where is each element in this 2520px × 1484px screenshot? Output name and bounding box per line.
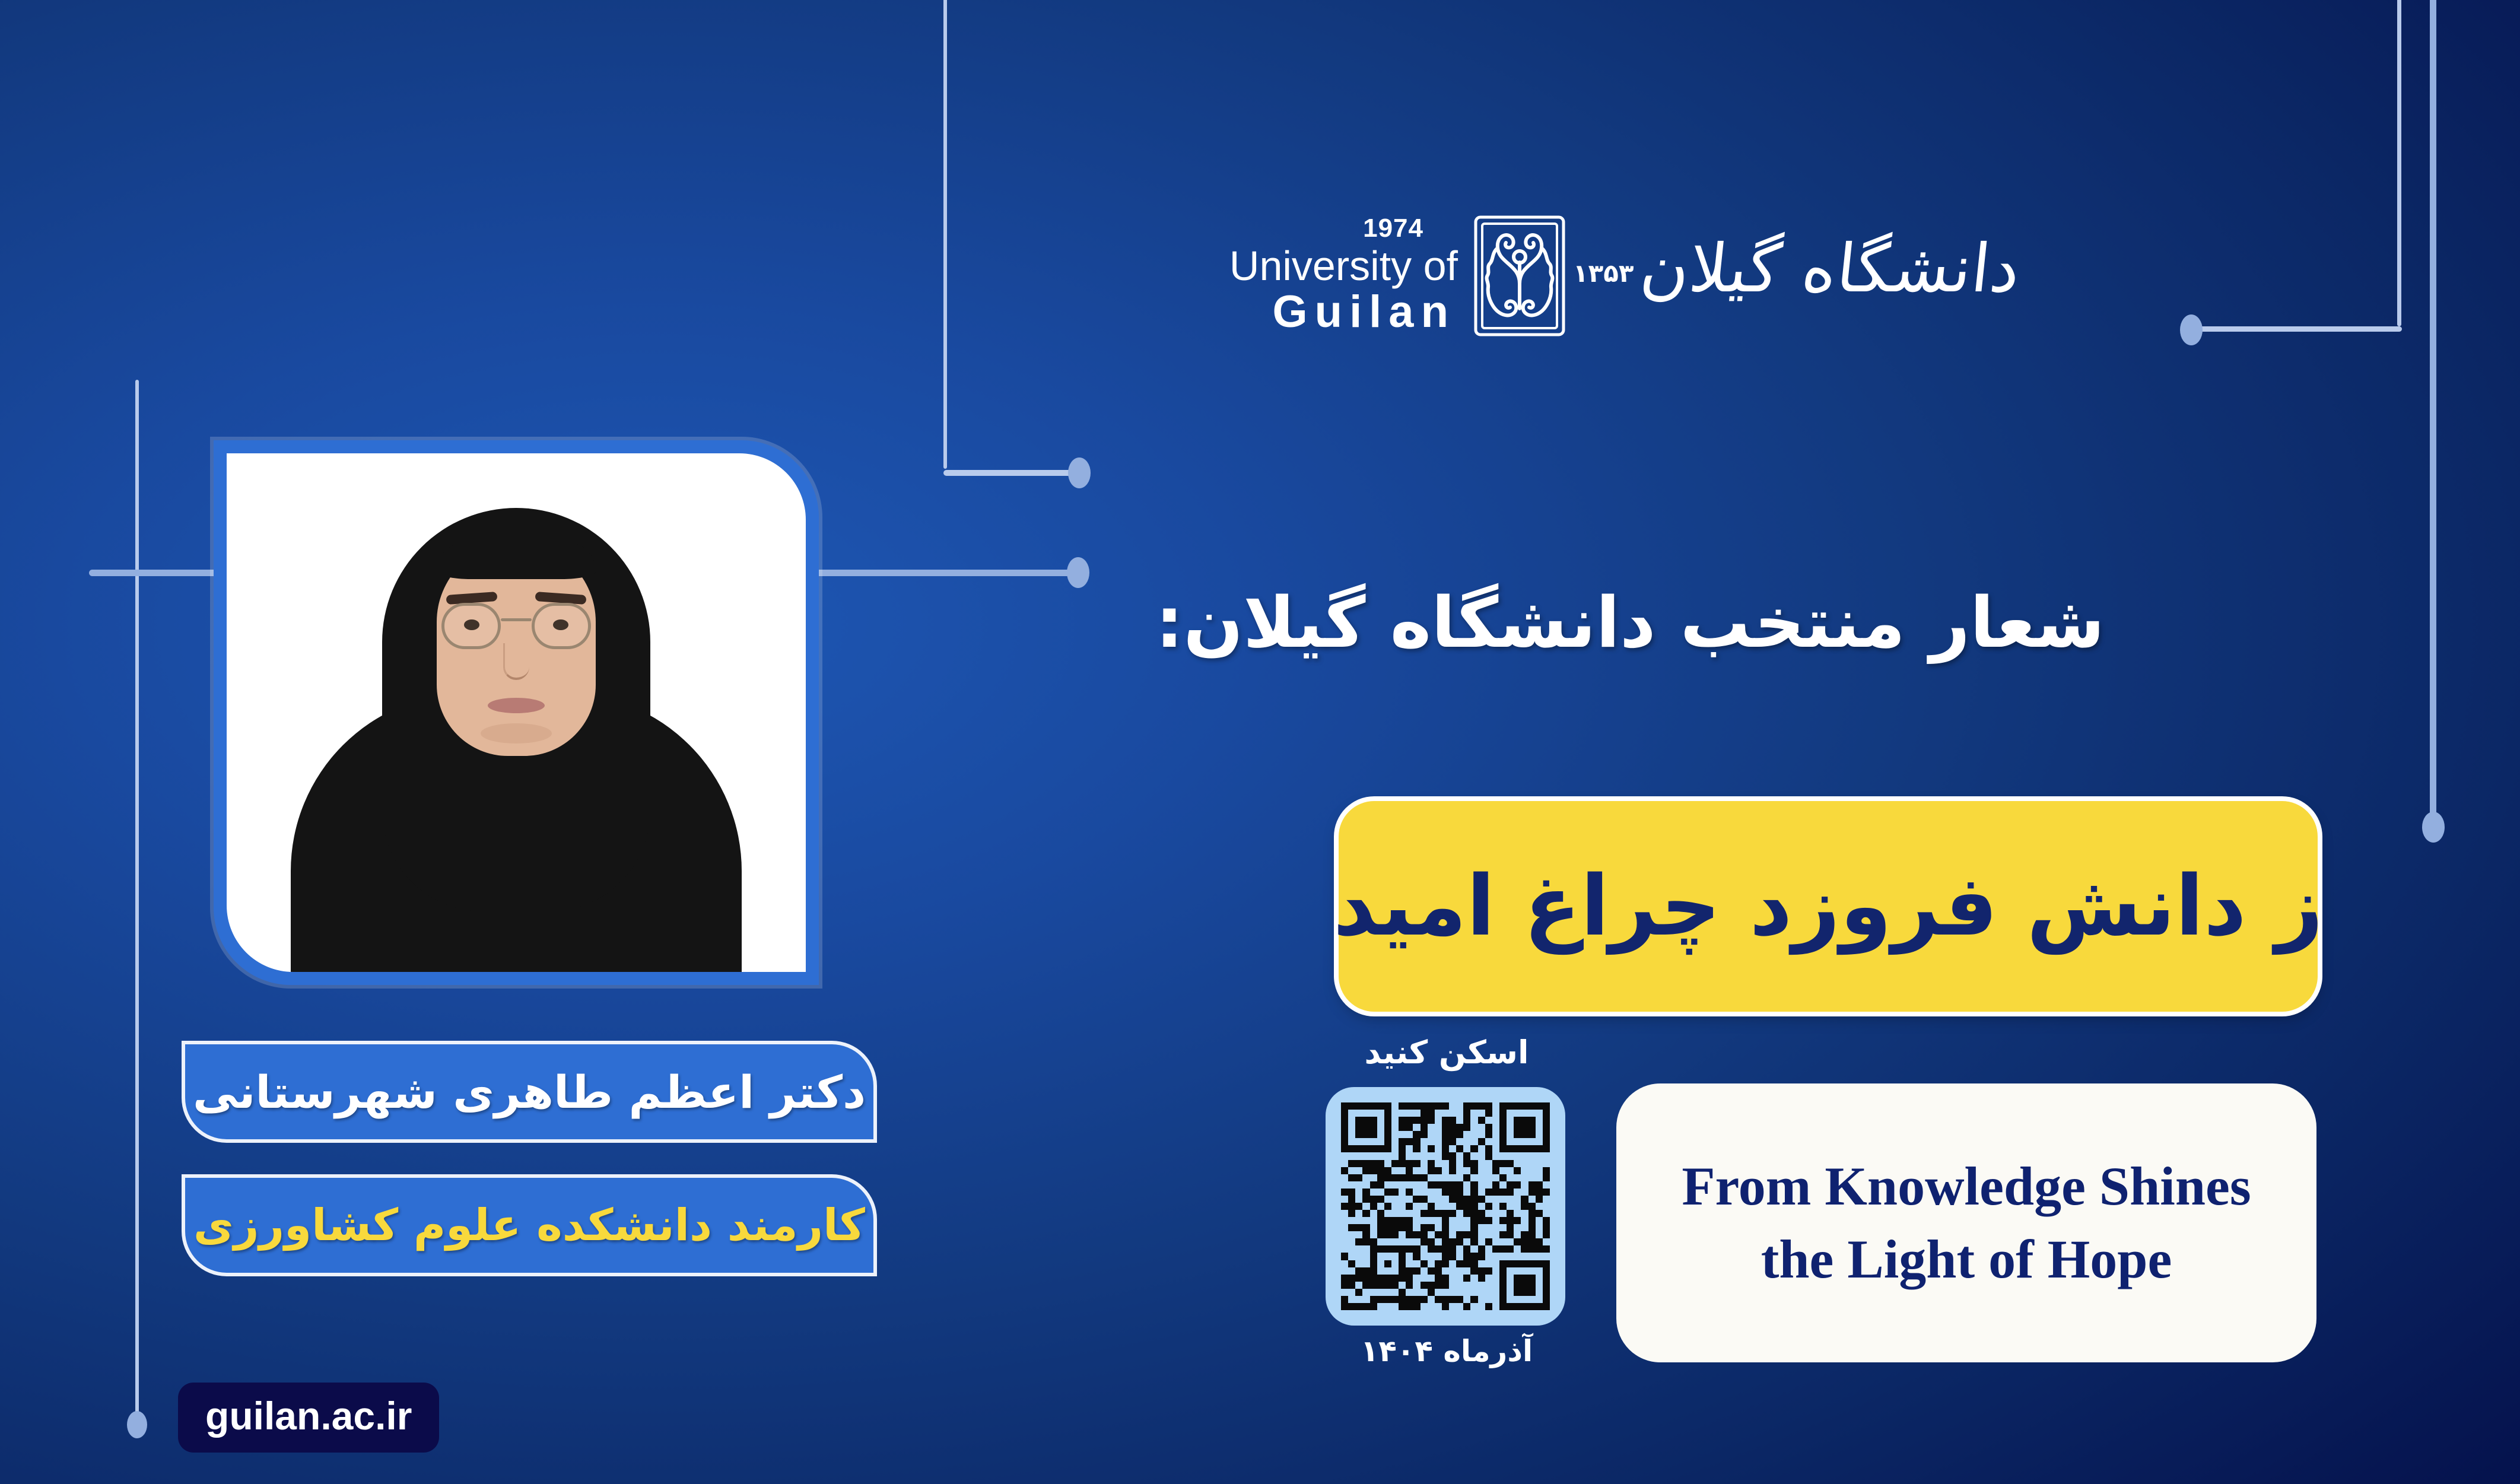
qr-date-label: آذرماه ۱۴۰۴ xyxy=(1322,1334,1571,1368)
qr-code[interactable] xyxy=(1326,1087,1565,1326)
slogan-box: ز دانش فروزد چراغ امید xyxy=(1339,801,2318,1012)
person-name-badge: دکتر اعظم طاهری شهرستانی xyxy=(185,1044,873,1139)
portrait-frame xyxy=(214,440,819,985)
portrait-hairline xyxy=(437,542,596,579)
logo-year-persian: ۱۳۵۳ xyxy=(1573,259,1634,294)
logo-persian-name: دانشگاه گیلان xyxy=(1635,230,2023,322)
glasses-lens-left xyxy=(441,603,501,649)
poster-canvas: 1974 University of Guilan ۱۳۵۳ دانشگاه گ… xyxy=(0,0,2520,1484)
deco-vertical-line-right-outer xyxy=(2430,0,2436,819)
deco-vertical-line-top-center xyxy=(943,0,947,469)
deco-dot-left-mid xyxy=(1067,557,1089,588)
deco-horizontal-line-upper xyxy=(943,470,1074,476)
deco-vertical-line-left-short xyxy=(135,380,139,1424)
logo-year-gregorian: 1974 xyxy=(1190,215,1458,241)
portrait-nose xyxy=(503,643,529,680)
glasses-bridge xyxy=(501,618,532,621)
scan-label: اسکن کنید xyxy=(1322,1034,1571,1071)
logo-guilan-word: Guilan xyxy=(1190,287,1458,337)
slogan-text-persian: ز دانش فروزد چراغ امید xyxy=(1333,865,2323,948)
qr-module-grid xyxy=(1341,1102,1550,1310)
deco-horizontal-line-right xyxy=(2195,326,2402,332)
slogan-english-line1: From Knowledge Shines xyxy=(1682,1150,2251,1223)
person-role-badge: کارمند دانشکده علوم کشاورزی xyxy=(185,1178,873,1273)
slogan-heading: شعار منتخب دانشگاه گیلان: xyxy=(1155,581,2105,663)
portrait-mouth xyxy=(488,698,545,713)
university-logo: 1974 University of Guilan ۱۳۵۳ دانشگاه گ… xyxy=(1190,196,2086,356)
deco-dot-left-bottom xyxy=(127,1411,147,1438)
portrait-chin xyxy=(481,723,552,743)
glasses-lens-right xyxy=(532,603,591,649)
deco-dot-upper xyxy=(1068,457,1091,488)
logo-university-word: University of xyxy=(1190,245,1458,287)
slogan-english-line2: the Light of Hope xyxy=(1761,1223,2172,1296)
deco-dot-right-bottom xyxy=(2422,812,2445,843)
guilan-emblem-icon xyxy=(1472,214,1567,338)
logo-english-lockup: 1974 University of Guilan xyxy=(1190,215,1469,337)
slogan-english-card: From Knowledge Shines the Light of Hope xyxy=(1616,1083,2316,1362)
deco-dot-right xyxy=(2180,314,2203,345)
website-pill[interactable]: guilan.ac.ir xyxy=(178,1383,439,1453)
portrait-photo xyxy=(227,453,806,972)
portrait-glasses-icon xyxy=(441,603,591,649)
deco-vertical-line-right-inner xyxy=(2397,0,2401,326)
